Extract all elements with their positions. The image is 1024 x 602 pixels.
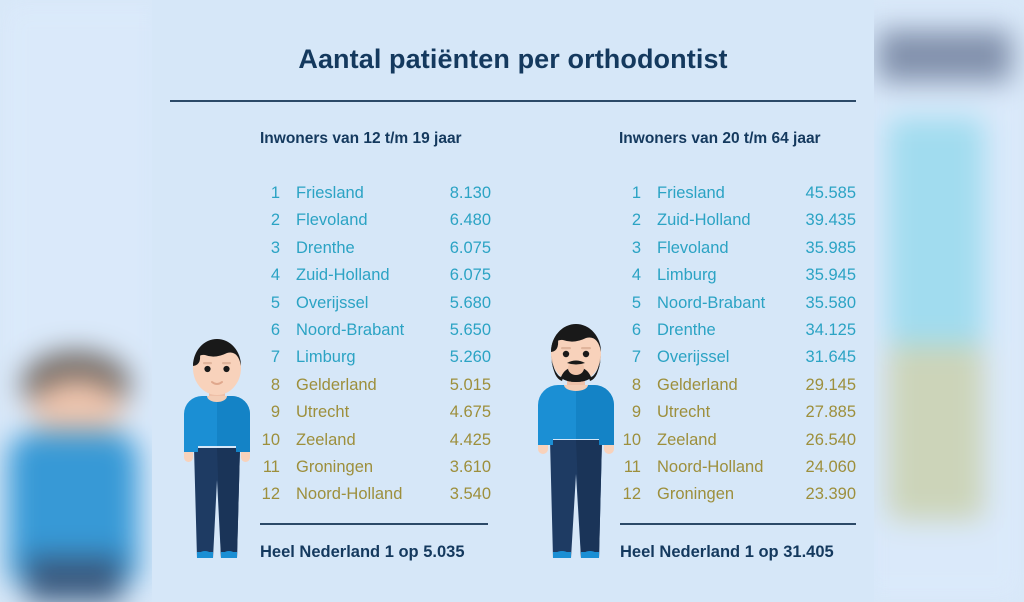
title-divider [170, 100, 856, 102]
province-name: Overijssel [641, 348, 784, 367]
province-name: Gelderland [280, 376, 429, 395]
teen-boy-illustration [176, 330, 258, 570]
rank-number: 8 [256, 376, 280, 395]
province-name: Utrecht [280, 403, 429, 422]
rank-number: 1 [617, 184, 641, 203]
patient-count: 3.540 [429, 485, 491, 504]
patient-count: 35.945 [784, 266, 856, 285]
ranking-row: 7Overijssel31.645 [617, 348, 856, 375]
ranking-row: 7Limburg5.260 [256, 348, 491, 375]
province-name: Noord-Holland [280, 485, 429, 504]
ranking-row: 9Utrecht4.675 [256, 403, 491, 430]
patient-count: 8.130 [429, 184, 491, 203]
blurred-title-band [872, 30, 1012, 82]
ranking-row: 5Noord-Brabant35.580 [617, 294, 856, 321]
patient-count: 31.645 [784, 348, 856, 367]
ranking-row: 6Noord-Brabant5.650 [256, 321, 491, 348]
footer-total-adults: Heel Nederland 1 op 31.405 [620, 543, 834, 562]
province-name: Noord-Brabant [641, 294, 784, 313]
page-title: Aantal patiënten per orthodontist [152, 44, 874, 75]
province-name: Drenthe [641, 321, 784, 340]
patient-count: 34.125 [784, 321, 856, 340]
province-name: Flevoland [280, 211, 429, 230]
patient-count: 6.480 [429, 211, 491, 230]
patient-count: 29.145 [784, 376, 856, 395]
rank-number: 5 [617, 294, 641, 313]
rank-number: 1 [256, 184, 280, 203]
patient-count: 6.075 [429, 266, 491, 285]
patient-count: 23.390 [784, 485, 856, 504]
rank-number: 2 [256, 211, 280, 230]
province-name: Friesland [280, 184, 429, 203]
blurred-legs-shape [26, 556, 122, 602]
ranking-row: 10Zeeland4.425 [256, 431, 491, 458]
province-name: Friesland [641, 184, 784, 203]
province-name: Limburg [280, 348, 429, 367]
ranking-row: 12Noord-Holland3.540 [256, 485, 491, 512]
province-name: Gelderland [641, 376, 784, 395]
province-name: Zeeland [641, 431, 784, 450]
ranking-row: 1Friesland8.130 [256, 184, 491, 211]
province-name: Groningen [641, 485, 784, 504]
footer-total-youth: Heel Nederland 1 op 5.035 [260, 543, 465, 562]
province-name: Flevoland [641, 239, 784, 258]
patient-count: 3.610 [429, 458, 491, 477]
ranking-list-youth: 1Friesland8.1302Flevoland6.4803Drenthe6.… [256, 184, 491, 513]
patient-count: 39.435 [784, 211, 856, 230]
ranking-row: 5Overijssel5.680 [256, 294, 491, 321]
ranking-row: 3Drenthe6.075 [256, 239, 491, 266]
ranking-row: 11Noord-Holland24.060 [617, 458, 856, 485]
province-name: Noord-Holland [641, 458, 784, 477]
patient-count: 5.650 [429, 321, 491, 340]
footer-divider-youth [260, 523, 488, 525]
footer-divider-adults [620, 523, 856, 525]
ranking-row: 6Drenthe34.125 [617, 321, 856, 348]
province-name: Utrecht [641, 403, 784, 422]
patient-count: 24.060 [784, 458, 856, 477]
rank-number: 6 [256, 321, 280, 340]
rank-number: 3 [256, 239, 280, 258]
rank-number: 2 [617, 211, 641, 230]
rank-number: 3 [617, 239, 641, 258]
ranking-row: 2Flevoland6.480 [256, 211, 491, 238]
province-name: Groningen [280, 458, 429, 477]
province-name: Noord-Brabant [280, 321, 429, 340]
province-name: Zuid-Holland [641, 211, 784, 230]
blurred-teal-text-band [888, 118, 984, 348]
patient-count: 35.580 [784, 294, 856, 313]
ranking-row: 1Friesland45.585 [617, 184, 856, 211]
rank-number: 11 [256, 458, 280, 477]
ranking-row: 10Zeeland26.540 [617, 431, 856, 458]
province-name: Limburg [641, 266, 784, 285]
patient-count: 26.540 [784, 431, 856, 450]
bearded-man-illustration [530, 316, 622, 570]
patient-count: 35.985 [784, 239, 856, 258]
background-blur-right [854, 0, 1024, 602]
patient-count: 6.075 [429, 239, 491, 258]
ranking-row: 4Limburg35.945 [617, 266, 856, 293]
column-heading-youth: Inwoners van 12 t/m 19 jaar [260, 130, 462, 148]
ranking-row: 3Flevoland35.985 [617, 239, 856, 266]
patient-count: 27.885 [784, 403, 856, 422]
rank-number: 7 [256, 348, 280, 367]
patient-count: 45.585 [784, 184, 856, 203]
patient-count: 5.015 [429, 376, 491, 395]
patient-count: 5.680 [429, 294, 491, 313]
infographic-stage: Aantal patiënten per orthodontist Inwone… [0, 0, 1024, 602]
ranking-list-adults: 1Friesland45.5852Zuid-Holland39.4353Flev… [617, 184, 856, 513]
content-panel: Aantal patiënten per orthodontist Inwone… [152, 0, 874, 602]
ranking-row: 9Utrecht27.885 [617, 403, 856, 430]
province-name: Drenthe [280, 239, 429, 258]
rank-number: 4 [256, 266, 280, 285]
ranking-row: 8Gelderland5.015 [256, 376, 491, 403]
province-name: Overijssel [280, 294, 429, 313]
ranking-row: 11Groningen3.610 [256, 458, 491, 485]
rank-number: 5 [256, 294, 280, 313]
blurred-gold-text-band [888, 345, 984, 520]
patient-count: 5.260 [429, 348, 491, 367]
ranking-row: 12Groningen23.390 [617, 485, 856, 512]
ranking-row: 2Zuid-Holland39.435 [617, 211, 856, 238]
patient-count: 4.425 [429, 431, 491, 450]
province-name: Zuid-Holland [280, 266, 429, 285]
patient-count: 4.675 [429, 403, 491, 422]
rank-number: 9 [256, 403, 280, 422]
ranking-row: 4Zuid-Holland6.075 [256, 266, 491, 293]
column-heading-adults: Inwoners van 20 t/m 64 jaar [619, 130, 821, 148]
background-blur-left [0, 0, 176, 602]
rank-number: 4 [617, 266, 641, 285]
province-name: Zeeland [280, 431, 429, 450]
rank-number: 10 [256, 431, 280, 450]
rank-number: 12 [256, 485, 280, 504]
ranking-row: 8Gelderland29.145 [617, 376, 856, 403]
